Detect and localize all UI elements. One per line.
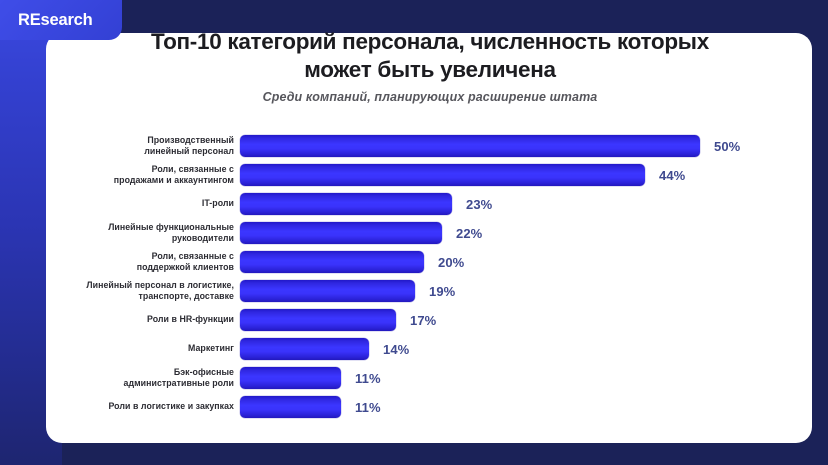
bar-fill[interactable] — [240, 280, 415, 302]
bar-row: IT-роли23% — [46, 193, 812, 215]
bar-track — [240, 135, 700, 157]
bar-fill[interactable] — [240, 396, 341, 418]
brand-logo-suffix: search — [41, 11, 93, 29]
bar-category-label: Роли в логистике и закупках — [46, 401, 234, 412]
bar-category-label: Маркетинг — [46, 343, 234, 354]
bar-value-label: 14% — [383, 338, 409, 360]
bar-fill[interactable] — [240, 222, 442, 244]
bar-row: Роли, связанные споддержкой клиентов20% — [46, 251, 812, 273]
bar-track — [240, 309, 396, 331]
bar-category-label: Бэк-офисныеадминистративные роли — [46, 367, 234, 390]
bar-track — [240, 222, 442, 244]
brand-logo-badge[interactable]: REsearch — [0, 0, 122, 40]
bar-value-label: 17% — [410, 309, 436, 331]
brand-logo-text: REsearch — [18, 11, 93, 30]
bar-row: Маркетинг14% — [46, 338, 812, 360]
bar-value-label: 11% — [355, 367, 381, 389]
bar-fill[interactable] — [240, 135, 700, 157]
bar-row: Бэк-офисныеадминистративные роли11% — [46, 367, 812, 389]
bar-track — [240, 280, 415, 302]
bar-category-label: Роли, связанные спродажами и аккаунтинго… — [46, 164, 234, 187]
bar-fill[interactable] — [240, 367, 341, 389]
bar-track — [240, 367, 341, 389]
bar-row: Роли в логистике и закупках11% — [46, 396, 812, 418]
bar-value-label: 44% — [659, 164, 685, 186]
slide-canvas: REsearch Топ-10 категорий персонала, чис… — [0, 0, 828, 465]
bar-category-label: Линейные функциональныеруководители — [46, 222, 234, 245]
bar-row: Производственныйлинейный персонал50% — [46, 135, 812, 157]
bar-fill[interactable] — [240, 251, 424, 273]
bar-fill[interactable] — [240, 193, 452, 215]
bar-row: Роли в HR-функции17% — [46, 309, 812, 331]
bar-track — [240, 193, 452, 215]
bar-value-label: 19% — [429, 280, 455, 302]
bar-track — [240, 338, 369, 360]
bar-row: Линейный персонал в логистике,транспорте… — [46, 280, 812, 302]
brand-logo-prefix: RE — [18, 11, 41, 29]
bar-track — [240, 396, 341, 418]
bar-category-label: Производственныйлинейный персонал — [46, 135, 234, 158]
bar-category-label: Линейный персонал в логистике,транспорте… — [46, 280, 234, 303]
bar-value-label: 20% — [438, 251, 464, 273]
bar-fill[interactable] — [240, 164, 645, 186]
bar-row: Роли, связанные спродажами и аккаунтинго… — [46, 164, 812, 186]
bar-category-label: IT-роли — [46, 198, 234, 209]
bar-value-label: 22% — [456, 222, 482, 244]
bar-category-label: Роли, связанные споддержкой клиентов — [46, 251, 234, 274]
bar-value-label: 11% — [355, 396, 381, 418]
bar-category-label: Роли в HR-функции — [46, 314, 234, 325]
bar-track — [240, 164, 645, 186]
bar-fill[interactable] — [240, 338, 369, 360]
bar-track — [240, 251, 424, 273]
page-title: Топ-10 категорий персонала, численность … — [120, 28, 740, 84]
page-subtitle: Среди компаний, планирующих расширение ш… — [120, 90, 740, 104]
bar-fill[interactable] — [240, 309, 396, 331]
bar-value-label: 50% — [714, 135, 740, 157]
bar-chart-plot: Производственныйлинейный персонал50%Роли… — [46, 131, 812, 421]
bar-row: Линейные функциональныеруководители22% — [46, 222, 812, 244]
bar-value-label: 23% — [466, 193, 492, 215]
